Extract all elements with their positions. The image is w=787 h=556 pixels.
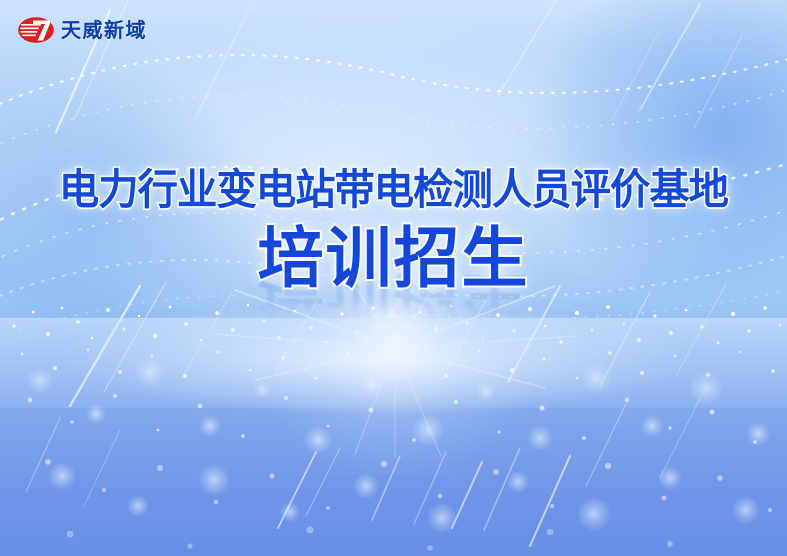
page-title: 电力行业变电站带电检测人员评价基地: [16, 168, 772, 213]
reflection-haze: [0, 318, 787, 408]
subtitle-reflection: 培训招生: [0, 324, 787, 390]
headline-block: 电力行业变电站带电检测人员评价基地 培训招生: [0, 168, 787, 293]
page-subtitle: 培训招生: [0, 225, 787, 294]
bokeh-blobs: [0, 330, 787, 556]
brand-logo[interactable]: 天威新域: [18, 16, 147, 44]
promo-banner: 培训招生 天威新域 电力行业变电站带电检测人员评价基地 培训招生: [0, 0, 787, 556]
tianwei-xinyu-emblem-icon: [18, 16, 54, 44]
brand-logo-text: 天威新域: [61, 20, 147, 40]
